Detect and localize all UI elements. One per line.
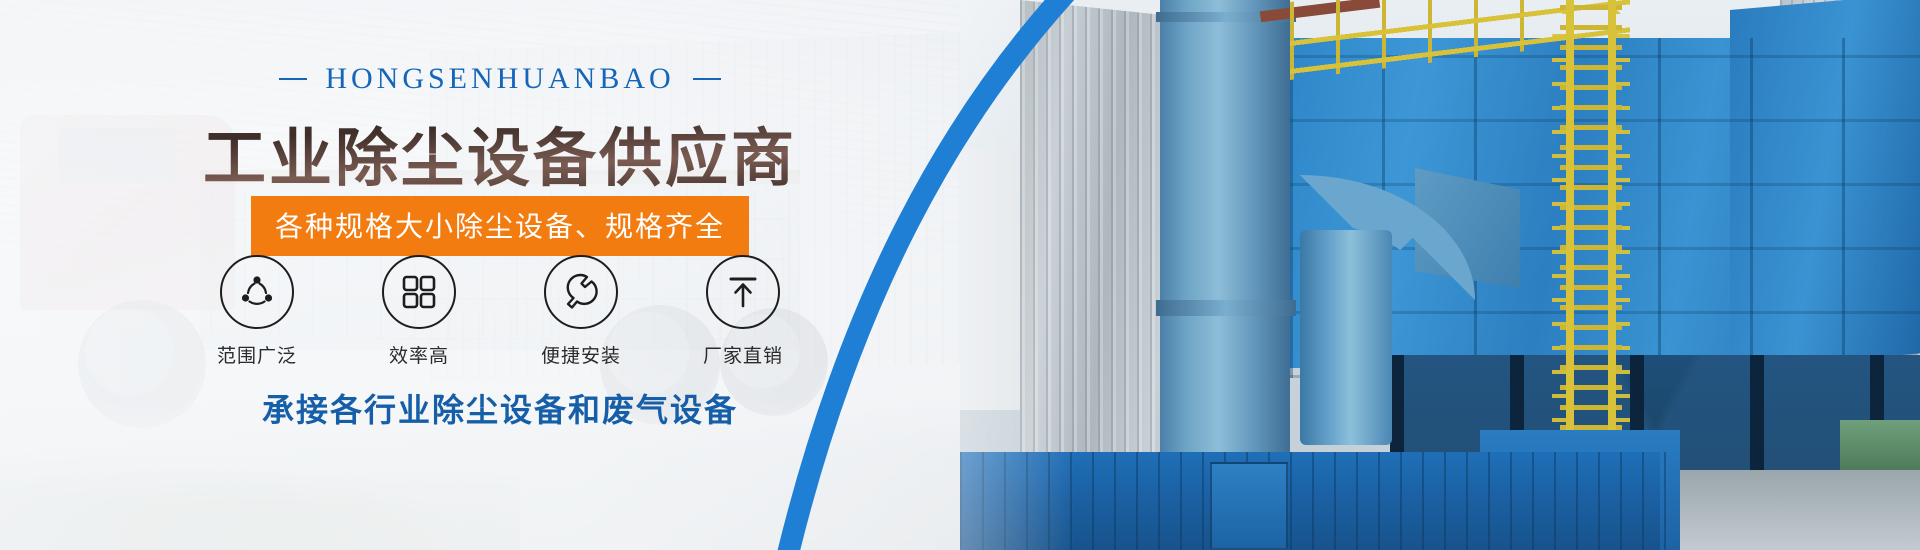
eyebrow-line: HONGSENHUANBAO bbox=[0, 62, 1000, 96]
page-title: 工业除尘设备供应商 bbox=[0, 108, 1000, 199]
hero-text-block: HONGSENHUANBAO 工业除尘设备供应商 各种规格大小除尘设备、规格齐全 bbox=[0, 0, 1000, 550]
feature-item-direct-sales[interactable]: 厂家直销 bbox=[695, 255, 791, 368]
blue-stack-cylinder bbox=[1160, 0, 1290, 460]
vertical-duct bbox=[1300, 230, 1392, 445]
arrow-up-bar-icon bbox=[706, 255, 780, 329]
eyebrow-dash-left bbox=[279, 78, 307, 80]
feature-label: 效率高 bbox=[371, 341, 467, 368]
hero-banner: HONGSENHUANBAO 工业除尘设备供应商 各种规格大小除尘设备、规格齐全 bbox=[0, 0, 1920, 550]
eyebrow-dash-right bbox=[693, 78, 721, 80]
feature-list: 范围广泛 效率高 bbox=[0, 255, 1000, 368]
green-vegetation bbox=[1840, 420, 1920, 470]
feature-label: 范围广泛 bbox=[209, 341, 305, 368]
eyebrow-text: HONGSENHUANBAO bbox=[325, 62, 674, 96]
share-network-icon bbox=[220, 255, 294, 329]
grid-four-squares-icon bbox=[382, 255, 456, 329]
feature-item-coverage[interactable]: 范围广泛 bbox=[209, 255, 305, 368]
tagline: 承接各行业除尘设备和废气设备 bbox=[0, 385, 1000, 431]
feature-item-efficiency[interactable]: 效率高 bbox=[371, 255, 467, 368]
highlight-bar-text: 各种规格大小除尘设备、规格齐全 bbox=[251, 196, 749, 256]
wrench-icon bbox=[544, 255, 618, 329]
feature-label: 厂家直销 bbox=[695, 341, 791, 368]
feature-item-installation[interactable]: 便捷安装 bbox=[533, 255, 629, 368]
yellow-ladder bbox=[1560, 0, 1622, 470]
stack-band bbox=[1156, 300, 1296, 316]
highlight-bar: 各种规格大小除尘设备、规格齐全 bbox=[0, 196, 1000, 256]
feature-label: 便捷安装 bbox=[533, 341, 629, 368]
access-door bbox=[1210, 462, 1288, 550]
